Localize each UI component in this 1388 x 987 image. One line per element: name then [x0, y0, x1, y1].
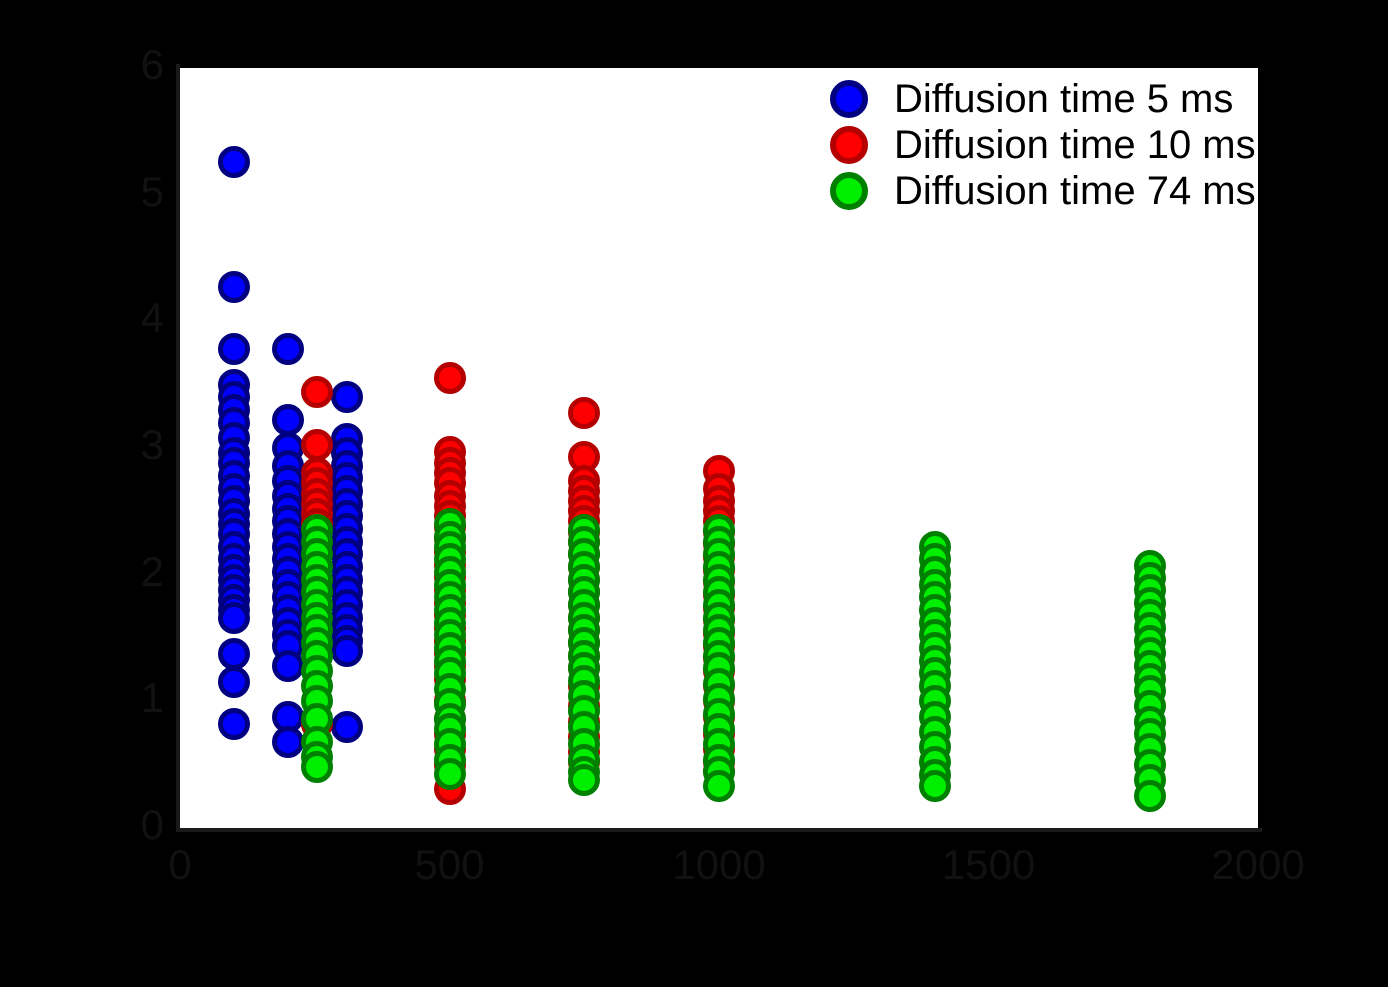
data-point: [218, 333, 250, 365]
data-point: [301, 751, 333, 783]
x-tick-label-1: 500: [370, 844, 530, 886]
legend-item-1[interactable]: Diffusion time 10 ms: [830, 122, 1256, 168]
circle-marker-red-icon: [830, 126, 868, 164]
data-point: [331, 381, 363, 413]
y-tick-label-1: 1: [116, 677, 164, 719]
y-tick-label-6: 6: [116, 44, 164, 86]
x-tick-label-0: 0: [100, 844, 260, 886]
data-point: [919, 770, 951, 802]
data-point: [703, 770, 735, 802]
legend-item-0[interactable]: Diffusion time 5 ms: [830, 76, 1233, 122]
legend-item-2[interactable]: Diffusion time 74 ms: [830, 168, 1256, 214]
data-point: [331, 711, 363, 743]
data-point: [272, 333, 304, 365]
data-point: [218, 602, 250, 634]
data-point: [434, 362, 466, 394]
data-point: [218, 666, 250, 698]
legend-label-1: Diffusion time 10 ms: [894, 125, 1256, 165]
y-tick-label-0: 0: [116, 804, 164, 846]
data-point: [434, 758, 466, 790]
data-point: [301, 376, 333, 408]
data-point: [568, 764, 600, 796]
legend-label-2: Diffusion time 74 ms: [894, 171, 1256, 211]
data-point: [568, 397, 600, 429]
y-tick-label-3: 3: [116, 424, 164, 466]
data-point: [331, 635, 363, 667]
data-point: [1134, 780, 1166, 812]
y-tick-label-5: 5: [116, 171, 164, 213]
y-tick-label-2: 2: [116, 551, 164, 593]
data-point: [218, 708, 250, 740]
x-tick-label-2: 1000: [639, 844, 799, 886]
plot-canvas: Diffusion time 5 ms Diffusion time 10 ms…: [180, 68, 1258, 828]
legend-label-0: Diffusion time 5 ms: [894, 79, 1233, 119]
x-tick-label-4: 2000: [1178, 844, 1338, 886]
data-point: [218, 146, 250, 178]
data-point: [272, 650, 304, 682]
circle-marker-blue-icon: [830, 80, 868, 118]
legend-box: Diffusion time 5 ms Diffusion time 10 ms…: [808, 68, 1258, 228]
data-point: [218, 271, 250, 303]
y-tick-label-4: 4: [116, 297, 164, 339]
x-tick-label-3: 1500: [909, 844, 1069, 886]
data-point: [272, 726, 304, 758]
scatter-plot-figure: 01234560500100015002000 Diffusion time 5…: [0, 0, 1388, 987]
circle-marker-green-icon: [830, 172, 868, 210]
x-axis-spine: [176, 828, 1262, 832]
